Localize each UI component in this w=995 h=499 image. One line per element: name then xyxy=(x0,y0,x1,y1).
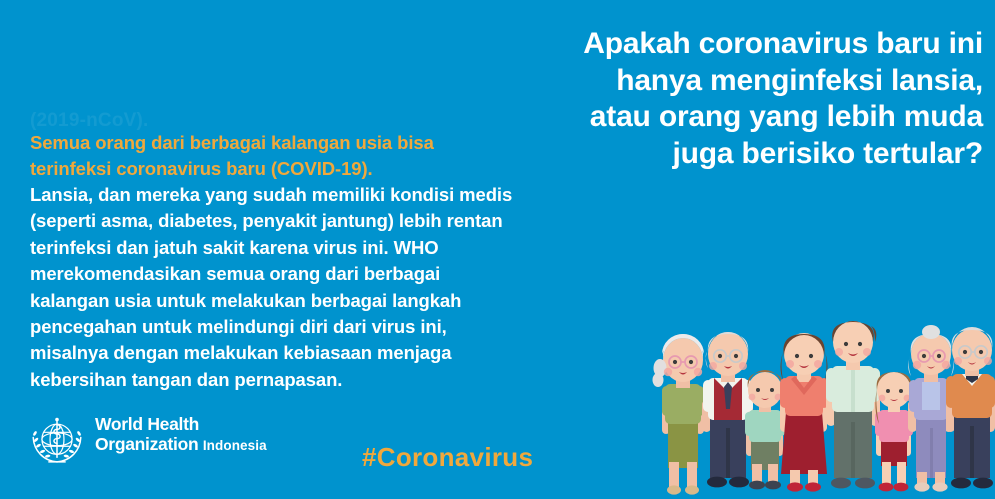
lead-statement: Semua orang dari berbagai kalangan usia … xyxy=(30,130,610,182)
body-text-block: Semua orang dari berbagai kalangan usia … xyxy=(30,130,610,393)
figure-girl-child xyxy=(875,372,913,491)
who-name-line2: Organization xyxy=(95,434,198,454)
figure-elderly-man-left xyxy=(702,332,753,487)
figure-father xyxy=(826,321,880,488)
body-paragraph: Lansia, dan mereka yang sudah memiliki k… xyxy=(30,182,610,393)
figure-elderly-man-right xyxy=(946,327,995,488)
who-name-line1: World Health xyxy=(95,414,199,434)
family-illustration xyxy=(640,312,995,499)
who-logo-text: World Health Organization Indonesia xyxy=(95,412,267,455)
figure-mother xyxy=(780,333,829,492)
hashtag-coronavirus: #Coronavirus xyxy=(362,442,533,473)
who-logo: World Health Organization Indonesia xyxy=(28,412,267,470)
who-emblem-icon xyxy=(28,412,86,470)
infographic-canvas: (2019-nCoV). Apakah coronavirus baru ini… xyxy=(0,0,995,499)
figure-boy-child xyxy=(745,370,785,489)
figure-elderly-woman-left xyxy=(653,334,705,495)
who-country-label: Indonesia xyxy=(203,438,267,453)
